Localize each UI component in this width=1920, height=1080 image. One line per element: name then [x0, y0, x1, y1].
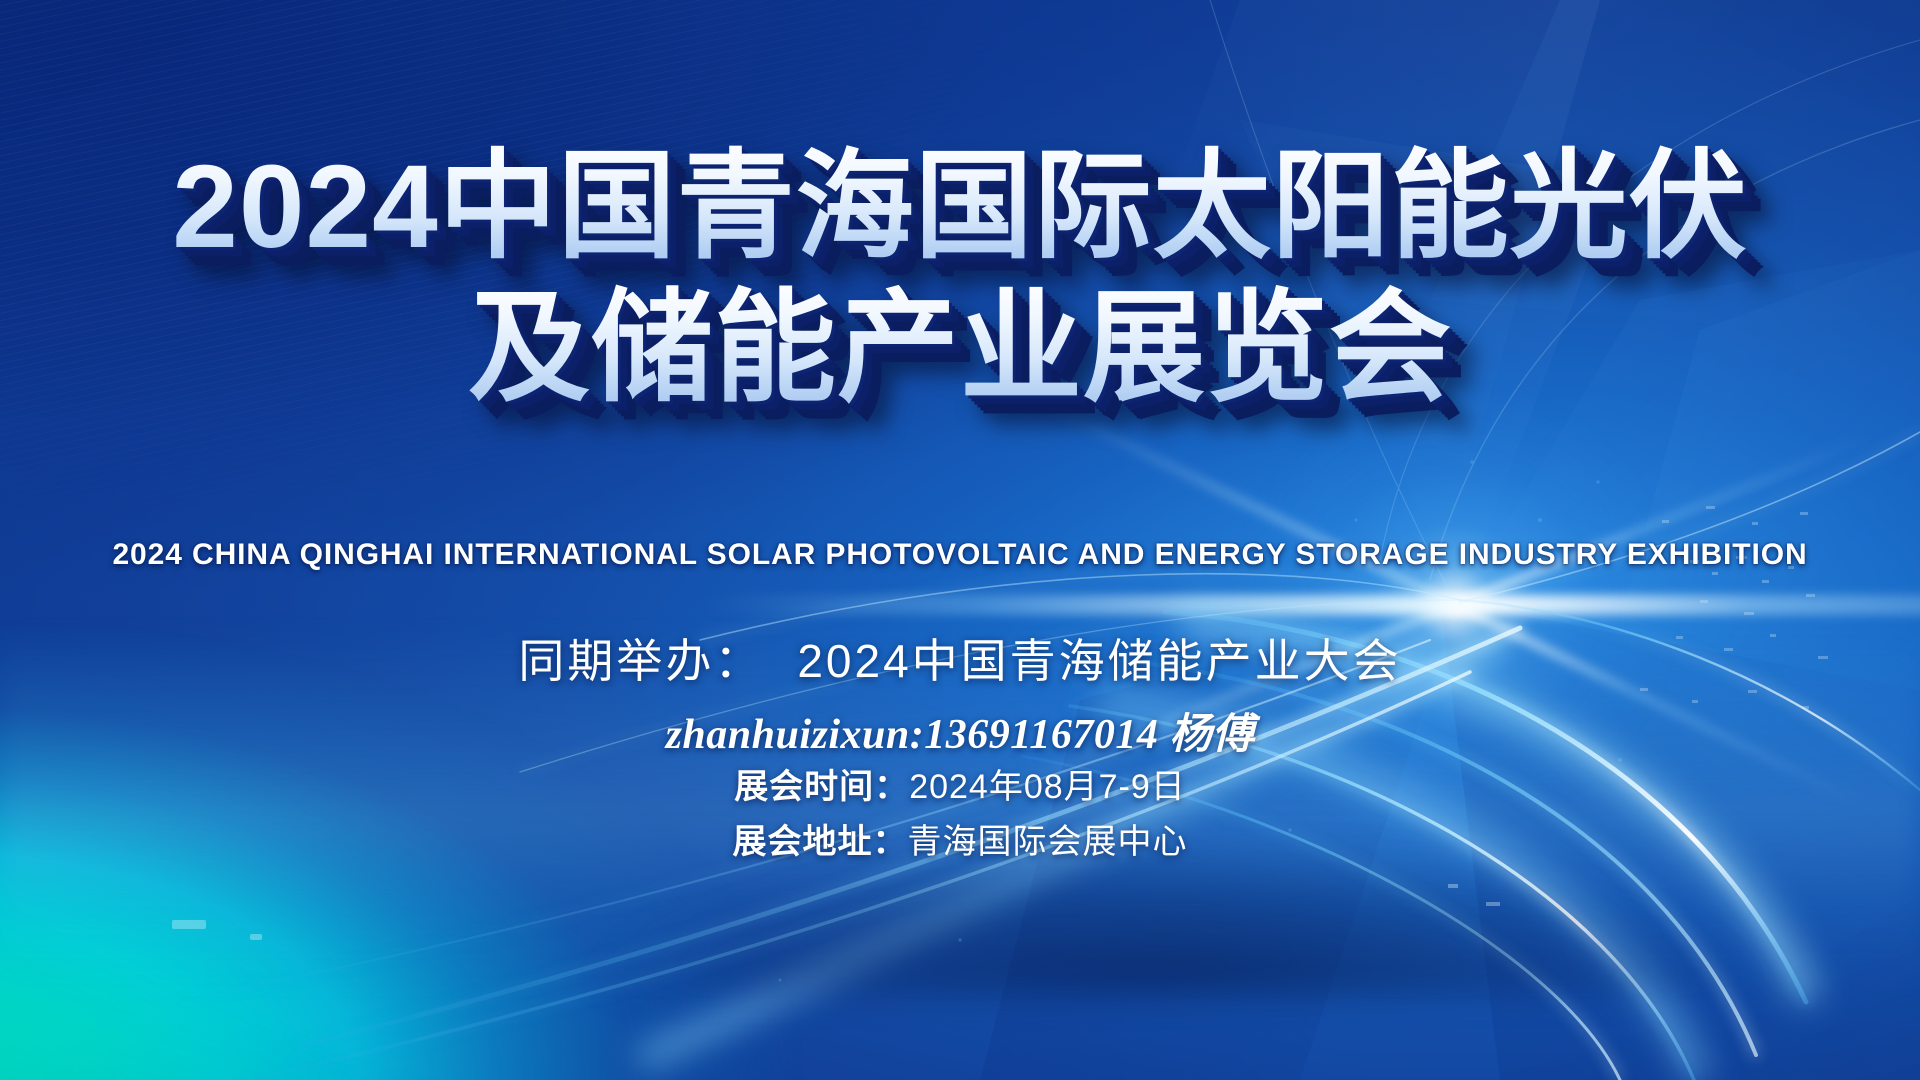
main-title-line-1: 2024中国青海国际太阳能光伏 [0, 138, 1920, 277]
event-address-label: 展会地址： [733, 823, 908, 861]
event-date-value: 2024年08月7-9日 [909, 768, 1186, 806]
event-address-line: 展会地址：青海国际会展中心 [0, 814, 1920, 863]
concurrent-event-label: 同期举办： [518, 635, 763, 687]
concurrent-event-line: 同期举办：2024中国青海储能产业大会 [0, 625, 1920, 691]
event-address-value: 青海国际会展中心 [908, 823, 1188, 861]
event-date-line: 展会时间：2024年08月7-9日 [0, 759, 1920, 808]
contact-line: zhanhuizixun:13691167014 杨傅 [0, 700, 1920, 761]
event-promo-banner: 2024中国青海国际太阳能光伏 及储能产业展览会 2024 CHINA QING… [0, 0, 1920, 1080]
main-title: 2024中国青海国际太阳能光伏 及储能产业展览会 [0, 138, 1920, 421]
english-subtitle: 2024 CHINA QINGHAI INTERNATIONAL SOLAR P… [0, 538, 1920, 572]
event-date-label: 展会时间： [734, 768, 909, 806]
main-title-line-2: 及储能产业展览会 [0, 277, 1920, 421]
banner-content: 2024中国青海国际太阳能光伏 及储能产业展览会 2024 CHINA QING… [0, 0, 1920, 1080]
concurrent-event-value: 2024中国青海储能产业大会 [797, 635, 1401, 687]
